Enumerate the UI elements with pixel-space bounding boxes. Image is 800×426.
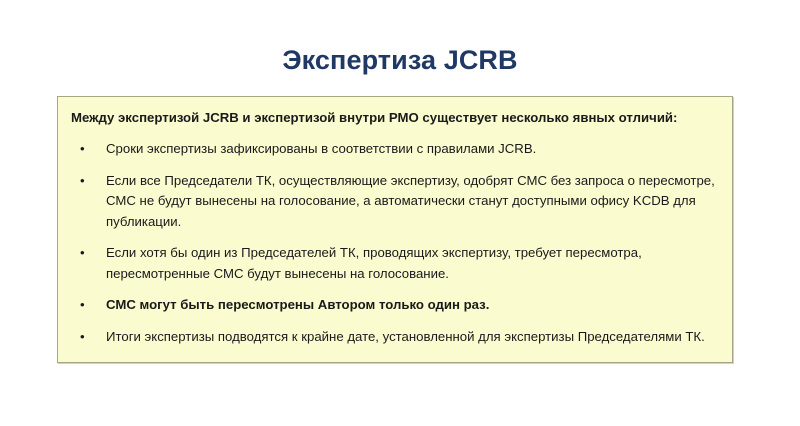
slide-canvas: Экспертиза JCRB Между экспертизой JCRB и… (0, 0, 800, 426)
bullet-list: • Сроки экспертизы зафиксированы в соотв… (66, 139, 720, 347)
bullet-dot-icon: • (80, 327, 90, 348)
list-item: • Итоги экспертизы подводятся к крайне д… (66, 327, 720, 348)
lead-paragraph: Между экспертизой JCRB и экспертизой вну… (66, 107, 720, 128)
list-item: • Если все Председатели ТК, осуществляющ… (66, 171, 720, 233)
list-item-label: СМС могут быть пересмотрены Автором толь… (106, 295, 718, 316)
list-item-label: Итоги экспертизы подводятся к крайне дат… (106, 327, 718, 348)
bullet-dot-icon: • (80, 295, 90, 316)
list-item-label: Если хотя бы один из Председателей ТК, п… (106, 243, 718, 284)
list-item-label: Если все Председатели ТК, осуществляющие… (106, 171, 718, 233)
bullet-dot-icon: • (80, 139, 90, 160)
list-item-label: Сроки экспертизы зафиксированы в соответ… (106, 139, 718, 160)
list-item: • Если хотя бы один из Председателей ТК,… (66, 243, 720, 284)
bullet-dot-icon: • (80, 171, 90, 192)
content-box-inner: Между экспертизой JCRB и экспертизой вну… (58, 97, 732, 355)
list-item: • СМС могут быть пересмотрены Автором то… (66, 295, 720, 316)
list-item: • Сроки экспертизы зафиксированы в соотв… (66, 139, 720, 160)
page-title: Экспертиза JCRB (0, 44, 800, 76)
content-box: Между экспертизой JCRB и экспертизой вну… (57, 96, 733, 363)
bullet-dot-icon: • (80, 243, 90, 264)
